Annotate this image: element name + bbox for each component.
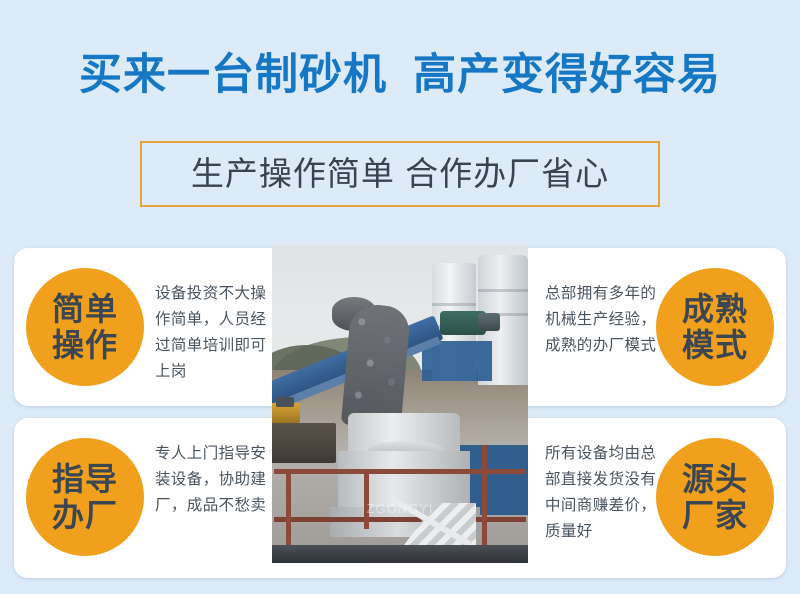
- badge-line-2: 厂家: [682, 497, 748, 533]
- photo-gravel-stream: [341, 303, 411, 430]
- photo-wheel-loader-cab: [276, 397, 294, 407]
- feature-badge-factory-guidance: 指导 办厂: [26, 438, 144, 556]
- badge-line-1: 指导: [52, 461, 118, 497]
- badge-line-1: 简单: [52, 291, 118, 327]
- subtitle-box: 生产操作简单 合作办厂省心: [140, 141, 660, 207]
- photo-platform-railing-bottom: [274, 517, 526, 522]
- feature-description-simple-operation: 设备投资不大操作简单，人员经过简单培训即可上岗: [155, 281, 280, 385]
- badge-line-2: 办厂: [52, 497, 118, 533]
- feature-badge-mature-model: 成熟 模式: [656, 268, 774, 386]
- badge-line-1: 源头: [682, 461, 748, 497]
- photo-platform-railing-top: [274, 469, 526, 474]
- sand-plant-photo: ZGONGYI: [272, 245, 528, 563]
- feature-badge-source-manufacturer: 源头 厂家: [656, 438, 774, 556]
- badge-line-2: 操作: [52, 327, 118, 363]
- photo-motor-housing: [478, 313, 500, 331]
- photo-watermark: ZGONGYI: [272, 501, 528, 516]
- photo-railing-post: [364, 469, 369, 529]
- badge-line-1: 成熟: [682, 291, 748, 327]
- photo-foreground-shadow: [272, 545, 528, 563]
- promo-poster: 买来一台制砂机 高产变得好容易 生产操作简单 合作办厂省心 简单 操作 设备投资…: [0, 0, 800, 594]
- feature-badge-simple-operation: 简单 操作: [26, 268, 144, 386]
- feature-description-factory-guidance: 专人上门指导安装设备，协助建厂，成品不愁卖: [155, 441, 280, 519]
- page-title: 买来一台制砂机 高产变得好容易: [0, 48, 800, 102]
- badge-line-2: 模式: [682, 327, 748, 363]
- feature-description-source-manufacturer: 所有设备均由总部直接发货没有中间商赚差价，质量好: [545, 441, 670, 545]
- photo-railing-post: [482, 445, 487, 545]
- subtitle-text: 生产操作简单 合作办厂省心: [191, 154, 609, 194]
- photo-debris-pile: [272, 423, 336, 463]
- feature-description-mature-model: 总部拥有多年的机械生产经验，成熟的办厂模式: [545, 281, 670, 359]
